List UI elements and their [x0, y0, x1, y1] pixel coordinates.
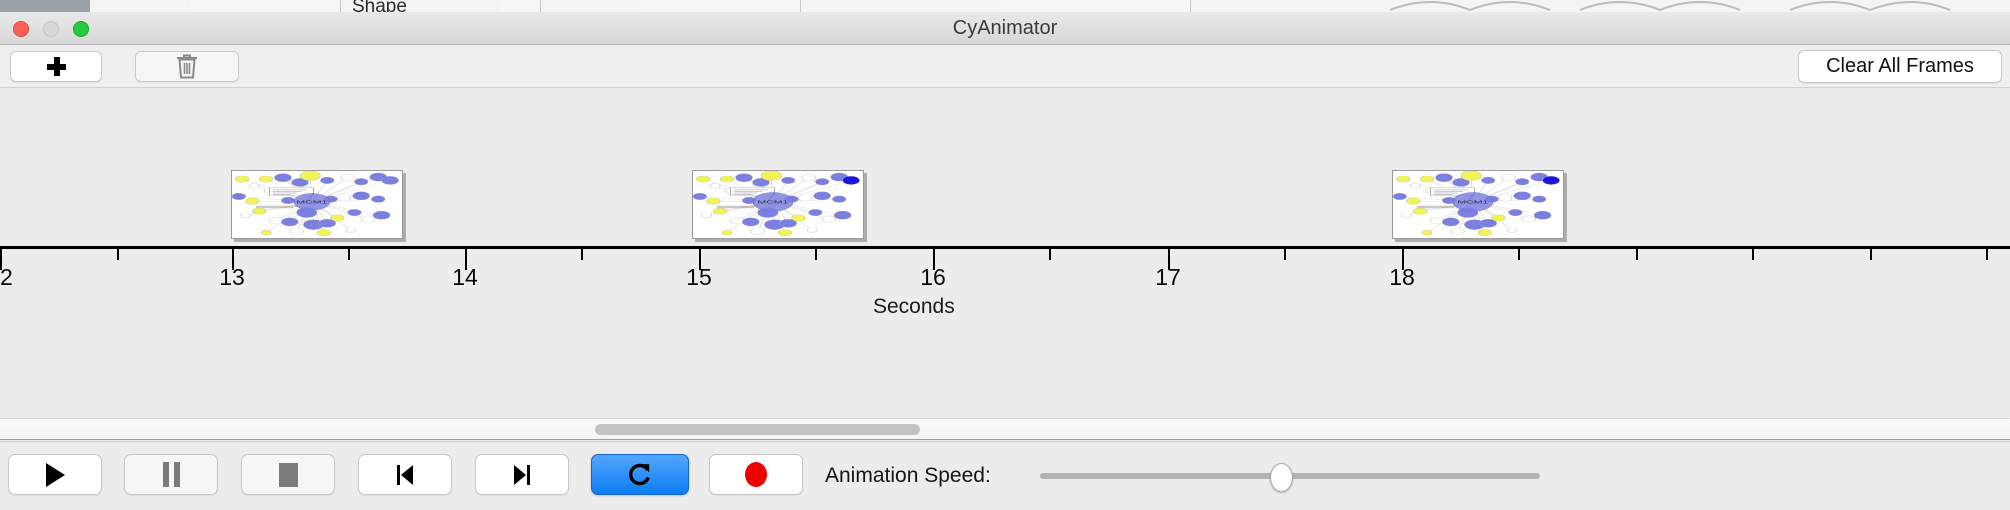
bg-segment — [190, 0, 341, 12]
transport-bar: Animation Speed: — [0, 441, 2010, 510]
axis-tick-minor — [1870, 249, 1872, 260]
axis-tick-minor — [1284, 249, 1286, 260]
timeline-horizontal-scrollbar[interactable] — [0, 418, 2010, 440]
timeline-panel[interactable]: MCM1 MCM1 MCM1 12131415161718 Seconds — [0, 88, 2010, 418]
animation-speed-label: Animation Speed: — [825, 464, 991, 488]
stop-icon — [279, 463, 298, 487]
frame-thumbnail[interactable]: MCM1 — [692, 170, 864, 239]
axis-tick-label: 17 — [1155, 264, 1181, 291]
skip-to-start-button[interactable] — [358, 454, 452, 495]
axis-tick-minor — [117, 249, 119, 260]
axis-tick-label: 14 — [452, 264, 478, 291]
animation-speed-slider-knob[interactable] — [1270, 463, 1293, 492]
frame-thumbnail[interactable]: MCM1 — [1392, 170, 1564, 239]
axis-tick-minor — [1518, 249, 1520, 260]
toolbar: Clear All Frames — [0, 45, 2010, 88]
svg-text:MCM1: MCM1 — [1457, 200, 1489, 205]
bg-segment — [640, 0, 801, 12]
skip-to-end-button[interactable] — [475, 454, 569, 495]
svg-text:MCM1: MCM1 — [296, 200, 328, 205]
axis-tick-label: 18 — [1389, 264, 1415, 291]
cyanimator-window: Shape CyAnimator Clear All Frames — [0, 0, 2010, 510]
axis-tick-minor — [581, 249, 583, 260]
axis-tick-label: 15 — [686, 264, 712, 291]
add-frame-button[interactable] — [10, 51, 102, 82]
trash-icon — [175, 53, 199, 80]
skip-forward-icon — [509, 462, 535, 488]
axis-title-seconds: Seconds — [873, 295, 955, 319]
frame-thumbnail[interactable]: MCM1 — [231, 170, 403, 239]
skip-back-icon — [392, 462, 418, 488]
axis-tick-minor — [1752, 249, 1754, 260]
bg-segment — [500, 0, 541, 12]
play-button[interactable] — [8, 454, 102, 495]
axis-tick-minor — [1636, 249, 1638, 260]
axis-tick-minor — [1986, 249, 1988, 260]
stop-button[interactable] — [241, 454, 335, 495]
play-icon — [46, 463, 65, 487]
clear-all-frames-label: Clear All Frames — [1826, 55, 1974, 78]
window-title: CyAnimator — [0, 12, 2010, 45]
record-icon — [745, 462, 767, 487]
delete-frame-button[interactable] — [135, 51, 239, 82]
record-button[interactable] — [709, 454, 803, 495]
plus-icon — [47, 57, 66, 76]
axis-tick-label: 12 — [0, 264, 13, 291]
loop-button[interactable] — [591, 454, 689, 495]
bg-dark-block — [0, 0, 90, 12]
axis-tick-label: 13 — [219, 264, 245, 291]
timeline-axis-line — [0, 246, 2010, 249]
axis-tick-minor — [815, 249, 817, 260]
pause-icon — [163, 462, 180, 487]
pause-button[interactable] — [124, 454, 218, 495]
clear-all-frames-button[interactable]: Clear All Frames — [1798, 50, 2002, 83]
loop-icon — [626, 460, 655, 489]
bg-segment — [1000, 0, 1191, 12]
scrollbar-thumb[interactable] — [595, 424, 920, 435]
axis-tick-minor — [348, 249, 350, 260]
axis-tick-minor — [1049, 249, 1051, 260]
title-bar: CyAnimator — [0, 12, 2010, 45]
svg-text:MCM1: MCM1 — [757, 200, 789, 205]
axis-tick-label: 16 — [920, 264, 946, 291]
bg-curve-decoration — [1390, 0, 2010, 12]
